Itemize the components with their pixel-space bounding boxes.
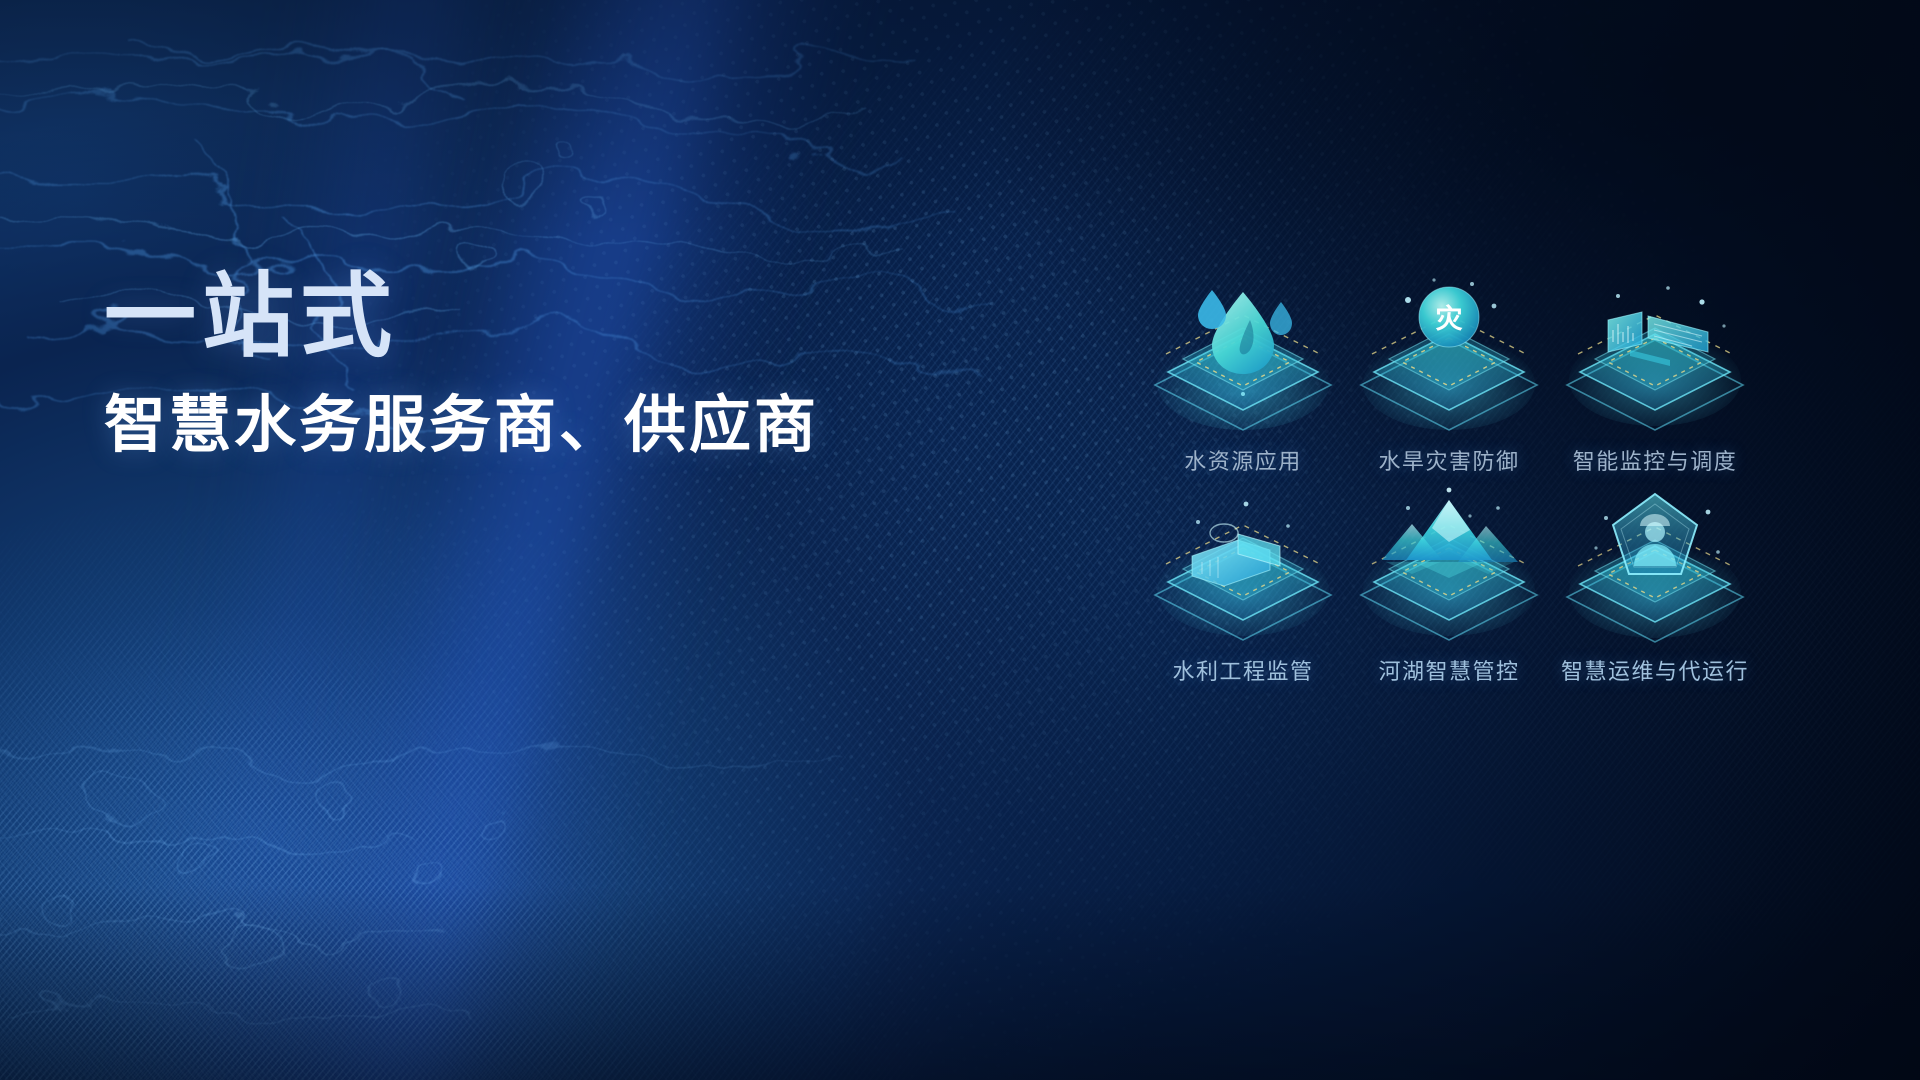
feature-label: 河湖智慧管控: [1378, 654, 1519, 686]
shield-operator-icon: [1552, 482, 1758, 652]
headline-block: 一站式 智慧水务服务商、供应商: [104, 268, 1004, 463]
page-title: 一站式: [104, 268, 1004, 367]
feature-grid: 水资源应用: [1140, 272, 1758, 686]
feature-item-project-supervision[interactable]: 水利工程监管: [1140, 482, 1346, 686]
control-room-icon: [1552, 272, 1758, 442]
disaster-glyph: 灾: [1436, 303, 1463, 334]
slide-stage: 一站式 智慧水务服务商、供应商: [0, 0, 1920, 1080]
feature-label: 水利工程监管: [1172, 654, 1313, 686]
feature-label: 智慧运维与代运行: [1561, 654, 1749, 686]
feature-label: 水旱灾害防御: [1378, 444, 1519, 476]
disaster-sphere-icon: 灾: [1346, 272, 1552, 442]
mountain-river-icon: [1346, 482, 1552, 652]
feature-item-smart-ops[interactable]: 智慧运维与代运行: [1552, 482, 1758, 686]
feature-item-flood-drought[interactable]: 灾 水旱灾害防御: [1346, 272, 1552, 476]
feature-item-river-lake[interactable]: 河湖智慧管控: [1346, 482, 1552, 686]
dam-structure-icon: [1140, 482, 1346, 652]
feature-label: 水资源应用: [1184, 444, 1302, 476]
feature-label: 智能监控与调度: [1573, 444, 1738, 476]
feature-item-water-resource[interactable]: 水资源应用: [1140, 272, 1346, 476]
feature-item-smart-monitor[interactable]: 智能监控与调度: [1552, 272, 1758, 476]
page-subtitle: 智慧水务服务商、供应商: [104, 389, 1004, 462]
water-drop-icon: [1140, 272, 1346, 442]
